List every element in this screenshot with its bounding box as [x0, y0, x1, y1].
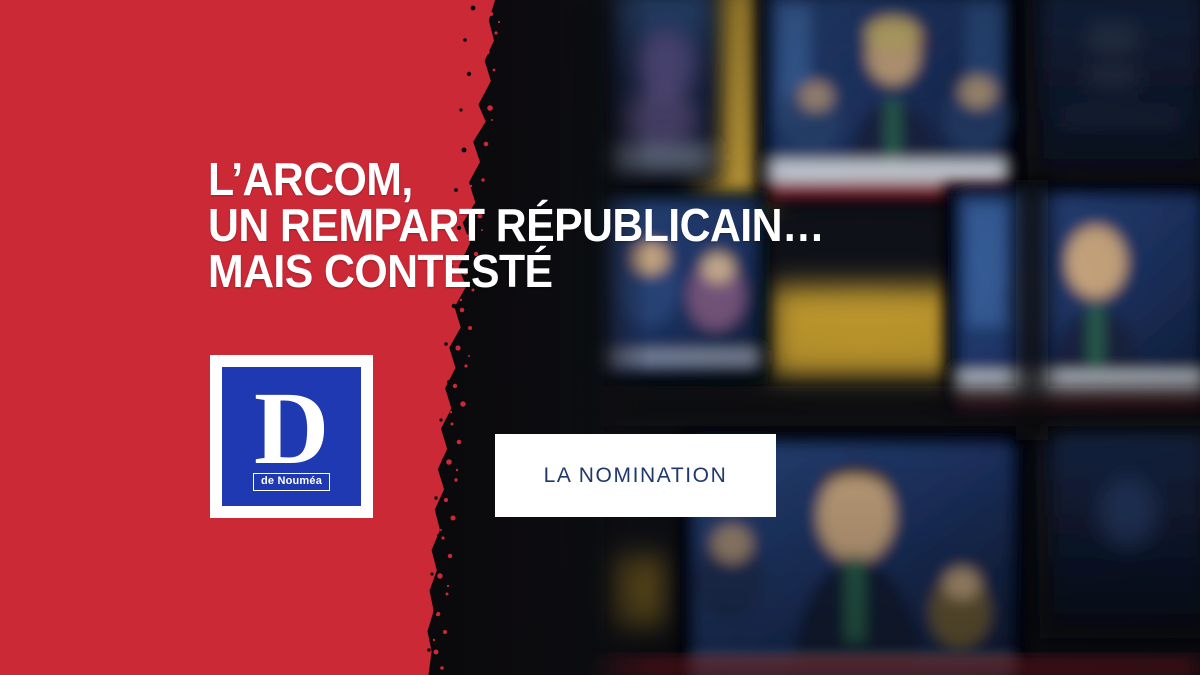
logo-inner-panel: D de Nouméa — [222, 367, 361, 506]
nomination-button[interactable]: LA NOMINATION — [495, 434, 776, 517]
monitor-mid-right — [944, 184, 1200, 416]
headline-line-2: UN REMPART RÉPUBLICAIN… — [208, 202, 933, 248]
headline-line-1: L’ARCOM, — [208, 156, 933, 202]
logo[interactable]: D de Nouméa — [210, 355, 373, 518]
headline-line-3: MAIS CONTESTÉ — [208, 248, 933, 294]
logo-monogram: D — [254, 386, 329, 471]
nomination-button-label: LA NOMINATION — [544, 464, 728, 488]
page-title: L’ARCOM, UN REMPART RÉPUBLICAIN… MAIS CO… — [208, 156, 933, 294]
red-bar-bottom — [600, 658, 1200, 675]
logo-subtitle: de Nouméa — [253, 473, 330, 491]
promo-banner: L’ARCOM, UN REMPART RÉPUBLICAIN… MAIS CO… — [0, 0, 1200, 675]
monitor-bottom-right — [1040, 424, 1200, 638]
monitor-top-right — [1028, 0, 1200, 184]
